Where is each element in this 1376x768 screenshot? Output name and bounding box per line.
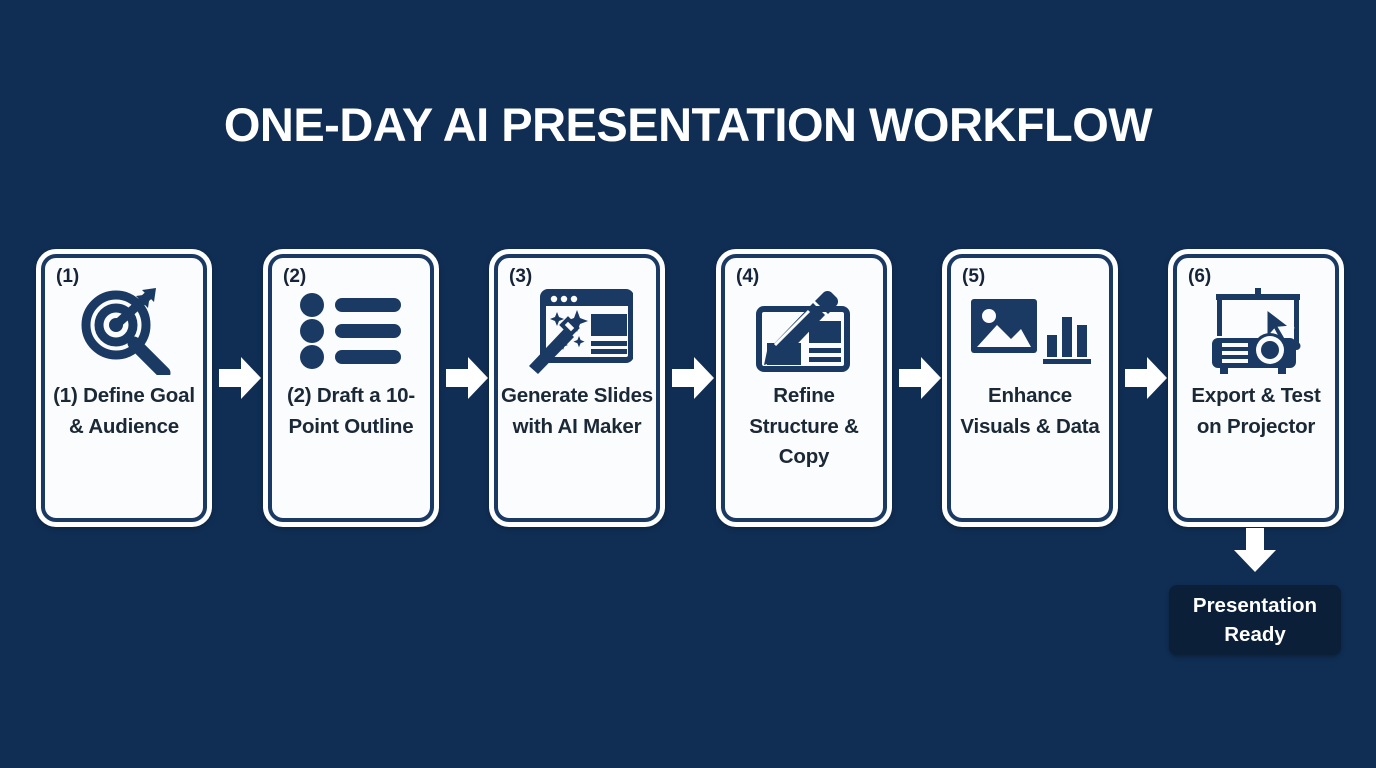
projector-screen-cursor-icon: [1172, 285, 1340, 377]
workflow-step-card-4[interactable]: (4) Refine Structure & Copy: [716, 249, 892, 527]
card-content-5: (5) Enhance Visuals & Data: [946, 253, 1114, 523]
step-label-2: (2) Draft a 10-Point Outline: [273, 381, 429, 442]
card-content-1: (1) (1) Define Goal & Audience: [40, 253, 208, 523]
card-content-2: (2) (2) Draft a 10-Point Outline: [267, 253, 435, 523]
card-content-3: (3): [493, 253, 661, 523]
terminal-label: Presentation Ready: [1169, 591, 1341, 649]
step-label-5: Enhance Visuals & Data: [952, 381, 1108, 442]
workflow-step-card-1[interactable]: (1) (1) Define Goal & Audience: [36, 249, 212, 527]
magic-wand-slide-icon: [493, 285, 661, 377]
bullet-list-icon: [267, 285, 435, 377]
arrow-right-icon-1: [219, 355, 261, 401]
image-bar-chart-icon: [946, 285, 1114, 377]
page-title: ONE-DAY AI PRESENTATION WORKFLOW: [0, 96, 1376, 154]
target-magnifier-icon: [40, 285, 208, 377]
arrow-right-icon-3: [672, 355, 714, 401]
workflow-step-card-6[interactable]: (6): [1168, 249, 1344, 527]
terminal-node-presentation-ready[interactable]: Presentation Ready: [1169, 585, 1341, 655]
step-label-6: Export & Test on Projector: [1178, 381, 1334, 442]
step-label-1: (1) Define Goal & Audience: [46, 381, 202, 442]
pencil-edit-slide-icon: [720, 285, 888, 377]
step-label-3: Generate Slides with AI Maker: [499, 381, 655, 442]
arrow-right-icon-5: [1125, 355, 1167, 401]
workflow-step-card-2[interactable]: (2) (2) Draft a 10-Point Outline: [263, 249, 439, 527]
card-content-6: (6): [1172, 253, 1340, 523]
arrow-down-icon: [1232, 528, 1278, 572]
workflow-step-card-5[interactable]: (5) Enhance Visuals & Data: [942, 249, 1118, 527]
card-content-4: (4) Refine Structure & Copy: [720, 253, 888, 523]
workflow-step-card-3[interactable]: (3): [489, 249, 665, 527]
workflow-slide: ONE-DAY AI PRESENTATION WORKFLOW (1): [0, 0, 1376, 768]
workflow-steps-row: (1) (1) Define Goal & Audience: [36, 249, 1340, 529]
arrow-right-icon-2: [446, 355, 488, 401]
arrow-right-icon-4: [899, 355, 941, 401]
step-label-4: Refine Structure & Copy: [726, 381, 882, 473]
